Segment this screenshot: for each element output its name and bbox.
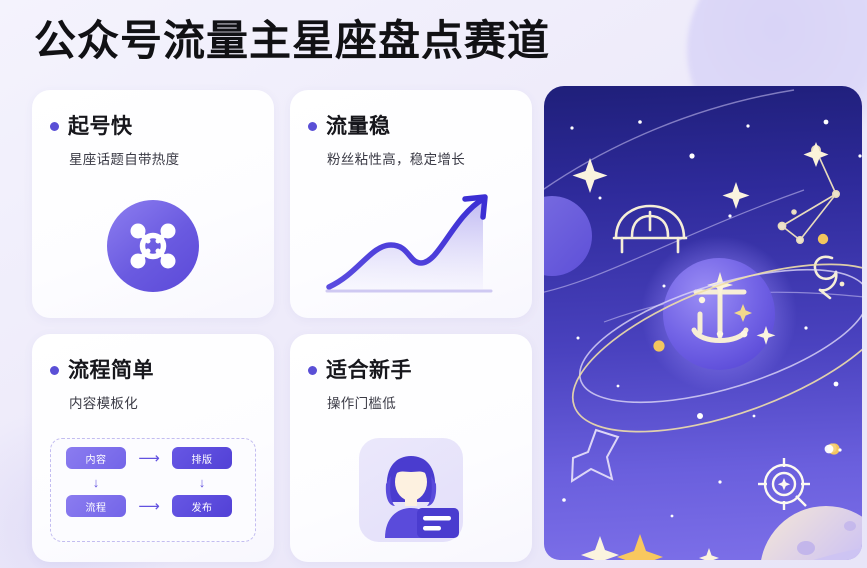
flow-node-1: 内容 <box>66 447 126 469</box>
card-header: 流程简单 <box>50 354 256 384</box>
orbit-dot-1 <box>818 234 828 244</box>
page-title: 公众号流量主星座盘点赛道 <box>34 16 550 66</box>
feature-card-4: 适合新手 操作门槛低 <box>290 334 532 562</box>
outline-star <box>572 430 618 481</box>
network-nodes-icon <box>107 200 199 292</box>
card-artwork: 内容 ⟶ 排版 ↓ ↓ 流程 ⟶ 发布 <box>32 426 274 554</box>
card-artwork <box>290 426 532 554</box>
card-artwork <box>32 182 274 310</box>
space-illustration-panel <box>544 86 862 560</box>
card-subtitle: 粉丝粘性高，稳定增长 <box>327 148 514 168</box>
flow-node-4: 发布 <box>172 495 232 517</box>
zodiac-symbol-scorpio <box>815 257 836 298</box>
flow-arrow-right-bottom: ⟶ <box>138 499 160 514</box>
small-planet <box>544 196 592 276</box>
space-scene <box>544 86 862 560</box>
flow-arrow-right-top: ⟶ <box>138 451 160 466</box>
bullet-dot-icon <box>308 366 317 375</box>
card-artwork <box>290 182 532 310</box>
gold-sparkle-star <box>617 534 663 560</box>
bullet-dot-icon <box>50 366 59 375</box>
growth-arrow-chart <box>313 187 509 305</box>
flow-node-2: 排版 <box>172 447 232 469</box>
constellation-sagittarius <box>778 146 839 243</box>
card-title: 适合新手 <box>326 354 412 384</box>
feature-card-3: 流程简单 内容模板化 内容 ⟶ 排版 ↓ ↓ 流程 ⟶ 发布 <box>32 334 274 562</box>
ringed-planet <box>720 506 862 560</box>
card-title: 流程简单 <box>68 354 154 384</box>
bullet-dot-icon <box>308 122 317 131</box>
card-subtitle: 内容模板化 <box>69 392 256 412</box>
feature-card-2: 流量稳 粉丝粘性高，稳定增长 <box>290 90 532 318</box>
flow-arrow-down-left: ↓ <box>93 476 100 489</box>
feature-card-grid: 起号快 星座话题自带热度 <box>32 90 532 550</box>
card-subtitle: 星座话题自带热度 <box>69 148 256 168</box>
poster-canvas: 公众号流量主星座盘点赛道 起号快 星座话题自带热度 <box>0 0 867 568</box>
card-header: 适合新手 <box>308 354 514 384</box>
feature-card-1: 起号快 星座话题自带热度 <box>32 90 274 318</box>
card-header: 流量稳 <box>308 110 514 140</box>
zodiac-symbol-leo <box>614 206 686 252</box>
flow-diagram: 内容 ⟶ 排版 ↓ ↓ 流程 ⟶ 发布 <box>50 438 256 542</box>
orbit-dot-2 <box>653 340 664 351</box>
person-message-icon <box>359 438 463 542</box>
card-subtitle: 操作门槛低 <box>327 392 514 412</box>
card-title: 起号快 <box>68 110 133 140</box>
flow-arrow-down-right: ↓ <box>199 476 206 489</box>
flow-node-3: 流程 <box>66 495 126 517</box>
card-title: 流量稳 <box>326 110 391 140</box>
card-header: 起号快 <box>50 110 256 140</box>
bullet-dot-icon <box>50 122 59 131</box>
